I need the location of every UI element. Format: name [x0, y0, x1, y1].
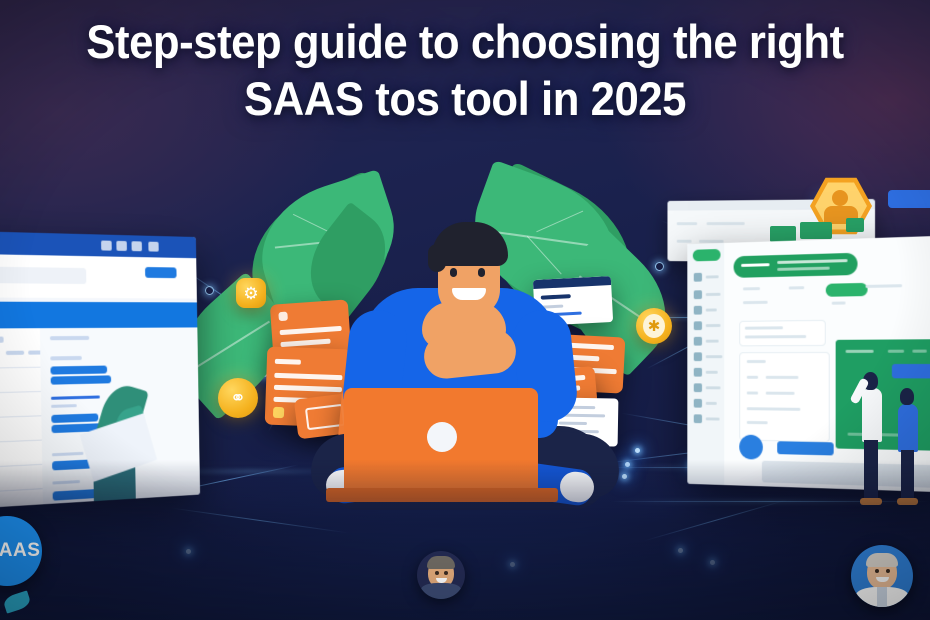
circle-icon[interactable]: [694, 321, 702, 330]
bulb-icon[interactable]: [694, 352, 702, 361]
grid-icon[interactable]: [694, 368, 702, 377]
right-dashboard-wide-button[interactable]: [777, 441, 833, 455]
saas-badge-label: SAAS: [0, 540, 40, 562]
link-icon[interactable]: [131, 241, 141, 251]
hero-banner: ⚙ ⚭ ✱: [0, 0, 930, 620]
share-nodes-icon: ⚭: [218, 378, 258, 418]
green-chip: [800, 222, 832, 239]
avatar-smiling-person[interactable]: [417, 551, 465, 599]
right-dashboard-cta-pill[interactable]: [826, 283, 868, 297]
chat-bubble-icon[interactable]: [739, 435, 763, 460]
calendar-icon[interactable]: [694, 399, 702, 408]
back-arrow-icon[interactable]: [101, 240, 112, 250]
coin-icon: ✱: [636, 308, 672, 344]
left-dashboard-toolbar: [0, 301, 197, 328]
gear-icon: ⚙: [236, 278, 266, 308]
settings-badge[interactable]: ⚙: [236, 278, 266, 308]
top-right-action-button[interactable]: [888, 190, 930, 208]
bookmark-icon[interactable]: [148, 242, 158, 252]
window-icon[interactable]: [694, 414, 702, 423]
green-chip: [770, 226, 796, 242]
right-dashboard-blue-button[interactable]: [892, 364, 930, 379]
drop-icon[interactable]: [694, 290, 702, 299]
left-dashboard-chip[interactable]: [50, 366, 107, 375]
cart-icon[interactable]: [116, 241, 127, 251]
avatar-business-man[interactable]: [851, 545, 913, 607]
bars-icon[interactable]: [694, 337, 702, 346]
chart-icon[interactable]: [694, 273, 702, 282]
floor-shadow: [0, 460, 930, 620]
right-dashboard-window[interactable]: [687, 236, 930, 493]
layers-icon[interactable]: [694, 306, 702, 315]
left-dashboard-primary-button[interactable]: [145, 267, 177, 278]
page-title: Step-step guide to choosing the right SA…: [0, 14, 930, 128]
headline-line-2: SAAS tos tool in 2025: [33, 70, 898, 128]
headline-line-1: Step-step guide to choosing the right: [33, 14, 898, 70]
green-chip: [846, 218, 864, 232]
coin-badge[interactable]: ✱: [636, 308, 672, 344]
network-share-badge[interactable]: ⚭: [218, 378, 258, 418]
doc-icon[interactable]: [694, 383, 702, 392]
